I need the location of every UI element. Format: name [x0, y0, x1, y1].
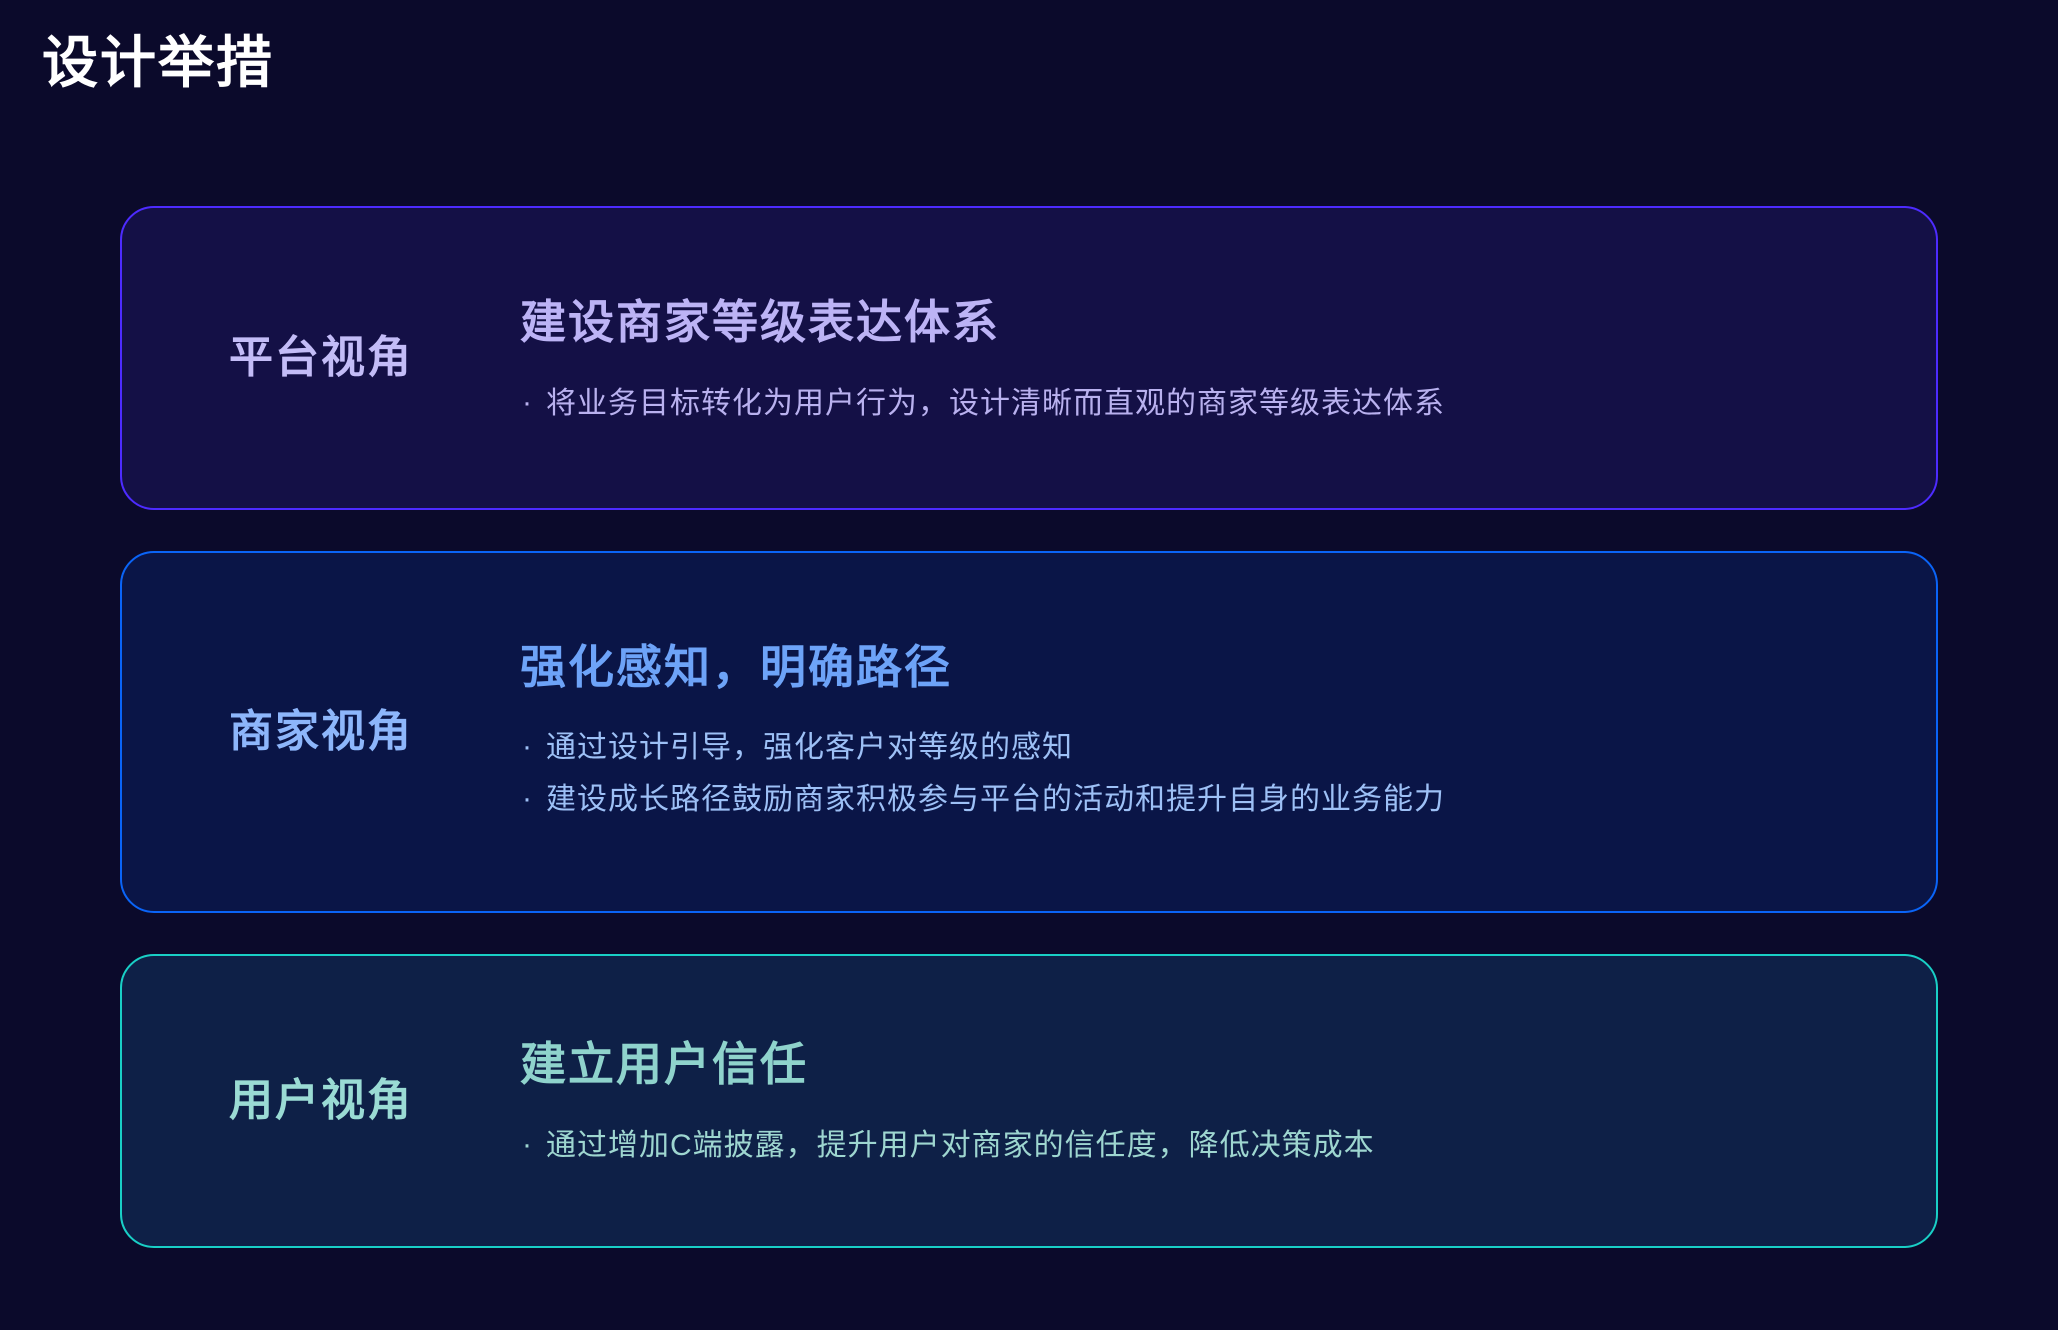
card-content-platform: 建设商家等级表达体系 将业务目标转化为用户行为，设计清晰而直观的商家等级表达体系: [520, 286, 1936, 429]
bullet-item: 将业务目标转化为用户行为，设计清晰而直观的商家等级表达体系: [520, 378, 1876, 430]
measure-card-merchant[interactable]: 商家视角 强化感知，明确路径 通过设计引导，强化客户对等级的感知 建设成长路径鼓…: [120, 551, 1938, 913]
card-heading-platform: 建设商家等级表达体系: [520, 294, 1876, 352]
card-content-merchant: 强化感知，明确路径 通过设计引导，强化客户对等级的感知 建设成长路径鼓励商家积极…: [520, 639, 1936, 826]
card-bullets-platform: 将业务目标转化为用户行为，设计清晰而直观的商家等级表达体系: [520, 378, 1876, 430]
bullet-item: 通过设计引导，强化客户对等级的感知: [520, 722, 1876, 774]
measure-card-platform[interactable]: 平台视角 建设商家等级表达体系 将业务目标转化为用户行为，设计清晰而直观的商家等…: [120, 206, 1938, 510]
perspective-label-user: 用户视角: [122, 1075, 520, 1128]
slide-root: 设计举措 平台视角 建设商家等级表达体系 将业务目标转化为用户行为，设计清晰而直…: [0, 0, 2058, 1330]
bullet-item: 通过增加C端披露，提升用户对商家的信任度，降低决策成本: [520, 1120, 1876, 1172]
measures-card-list: 平台视角 建设商家等级表达体系 将业务目标转化为用户行为，设计清晰而直观的商家等…: [120, 206, 1938, 1248]
measure-card-user[interactable]: 用户视角 建立用户信任 通过增加C端披露，提升用户对商家的信任度，降低决策成本: [120, 954, 1938, 1248]
card-bullets-merchant: 通过设计引导，强化客户对等级的感知 建设成长路径鼓励商家积极参与平台的活动和提升…: [520, 722, 1876, 825]
card-bullets-user: 通过增加C端披露，提升用户对商家的信任度，降低决策成本: [520, 1120, 1876, 1172]
card-heading-merchant: 强化感知，明确路径: [520, 639, 1876, 697]
bullet-item: 建设成长路径鼓励商家积极参与平台的活动和提升自身的业务能力: [520, 774, 1876, 826]
page-title: 设计举措: [42, 32, 274, 94]
perspective-label-merchant: 商家视角: [122, 706, 520, 759]
card-heading-user: 建立用户信任: [520, 1036, 1876, 1094]
card-content-user: 建立用户信任 通过增加C端披露，提升用户对商家的信任度，降低决策成本: [520, 1030, 1936, 1171]
perspective-label-platform: 平台视角: [122, 332, 520, 385]
